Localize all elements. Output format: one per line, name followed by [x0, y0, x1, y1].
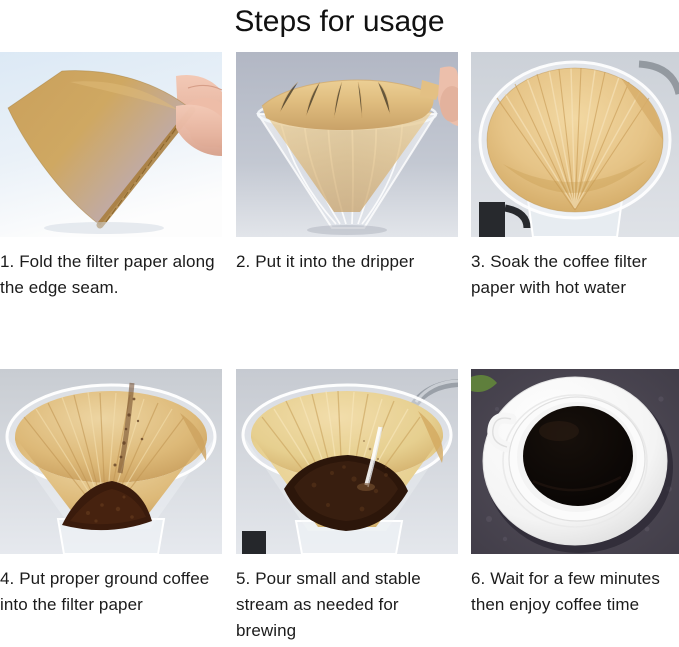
- photo-soaked-filter-paper-top-view: [471, 52, 679, 237]
- page-title: Steps for usage: [0, 2, 679, 42]
- step-caption-2: 2. Put it into the dripper: [236, 249, 458, 275]
- steps-row-2: 4. Put proper ground coffee into the fil…: [0, 369, 679, 644]
- photo-ground-coffee-poured-into-filter: [0, 369, 222, 554]
- photo-folded-filter-paper-in-hand: [0, 52, 222, 237]
- steps-row-1: 1. Fold the filter paper along the edge …: [0, 52, 679, 301]
- step-caption-3: 3. Soak the coffee filter paper with hot…: [471, 249, 679, 301]
- step-card-1: 1. Fold the filter paper along the edge …: [0, 52, 222, 301]
- photo-finished-cup-of-coffee: [471, 369, 679, 554]
- steps-grid: 1. Fold the filter paper along the edge …: [0, 52, 679, 644]
- step-card-6: 6. Wait for a few minutes then enjoy cof…: [471, 369, 679, 644]
- step-caption-4: 4. Put proper ground coffee into the fil…: [0, 566, 222, 618]
- step-caption-6: 6. Wait for a few minutes then enjoy cof…: [471, 566, 679, 618]
- step-caption-1: 1. Fold the filter paper along the edge …: [0, 249, 222, 301]
- step-card-4: 4. Put proper ground coffee into the fil…: [0, 369, 222, 644]
- step-card-3: 3. Soak the coffee filter paper with hot…: [471, 52, 679, 301]
- step-card-5: 5. Pour small and stable stream as neede…: [236, 369, 458, 644]
- photo-filter-paper-into-glass-dripper: [236, 52, 458, 237]
- photo-pouring-water-over-coffee-bed: [236, 369, 458, 554]
- step-card-2: 2. Put it into the dripper: [236, 52, 458, 301]
- steps-for-usage-infographic: Steps for usage: [0, 0, 679, 647]
- step-caption-5: 5. Pour small and stable stream as neede…: [236, 566, 458, 644]
